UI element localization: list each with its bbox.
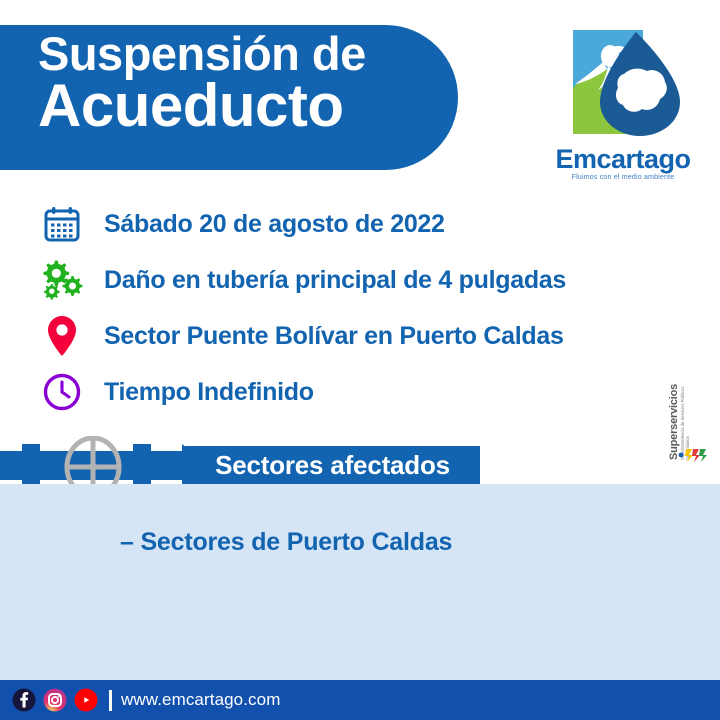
emcartago-logo: Emcartago Fluimos con el medio ambiente — [548, 26, 698, 186]
poster-root: Suspensión de Acueducto — [0, 0, 720, 720]
title-line-2: Acueducto — [38, 78, 366, 134]
info-label-cause: Daño en tubería principal de 4 pulgadas — [104, 266, 566, 295]
info-list: Sábado 20 de agosto de 2022 Daño en tube… — [0, 196, 720, 420]
instagram-icon[interactable] — [43, 688, 67, 712]
pipe-flange-left — [22, 444, 40, 487]
footer-website-url[interactable]: www.emcartago.com — [121, 690, 280, 710]
info-row-duration: Tiempo Indefinido — [0, 364, 720, 420]
section-title: Sectores afectados — [215, 450, 450, 481]
section-banner: Sectores afectados — [0, 443, 720, 488]
gears-icon — [34, 259, 90, 301]
title-line-1: Suspensión de — [38, 32, 366, 76]
info-label-duration: Tiempo Indefinido — [104, 378, 314, 407]
pipe-flange-right — [133, 444, 151, 487]
info-row-location: Sector Puente Bolívar en Puerto Caldas — [0, 308, 720, 364]
header: Suspensión de Acueducto — [0, 0, 720, 200]
page-title: Suspensión de Acueducto — [38, 32, 366, 134]
location-pin-icon — [34, 314, 90, 358]
logo-tagline: Fluimos con el medio ambiente — [548, 174, 698, 181]
sectors-panel: – Sectores de Puerto Caldas — [0, 484, 720, 680]
footer-divider — [109, 690, 112, 711]
section-banner-bar: Sectores afectados — [185, 446, 480, 485]
water-drop-bird-logo-icon — [548, 26, 698, 144]
info-label-location: Sector Puente Bolívar en Puerto Caldas — [104, 322, 564, 351]
youtube-icon[interactable] — [74, 688, 98, 712]
footer: www.emcartago.com — [0, 680, 720, 720]
facebook-icon[interactable] — [12, 688, 36, 712]
sector-list-item: – Sectores de Puerto Caldas — [120, 528, 452, 557]
social-icons — [12, 688, 98, 712]
clock-icon — [34, 372, 90, 412]
info-label-date: Sábado 20 de agosto de 2022 — [104, 210, 445, 239]
info-row-date: Sábado 20 de agosto de 2022 — [0, 196, 720, 252]
calendar-icon — [34, 204, 90, 244]
logo-wordmark: Emcartago — [548, 144, 698, 175]
info-row-cause: Daño en tubería principal de 4 pulgadas — [0, 252, 720, 308]
